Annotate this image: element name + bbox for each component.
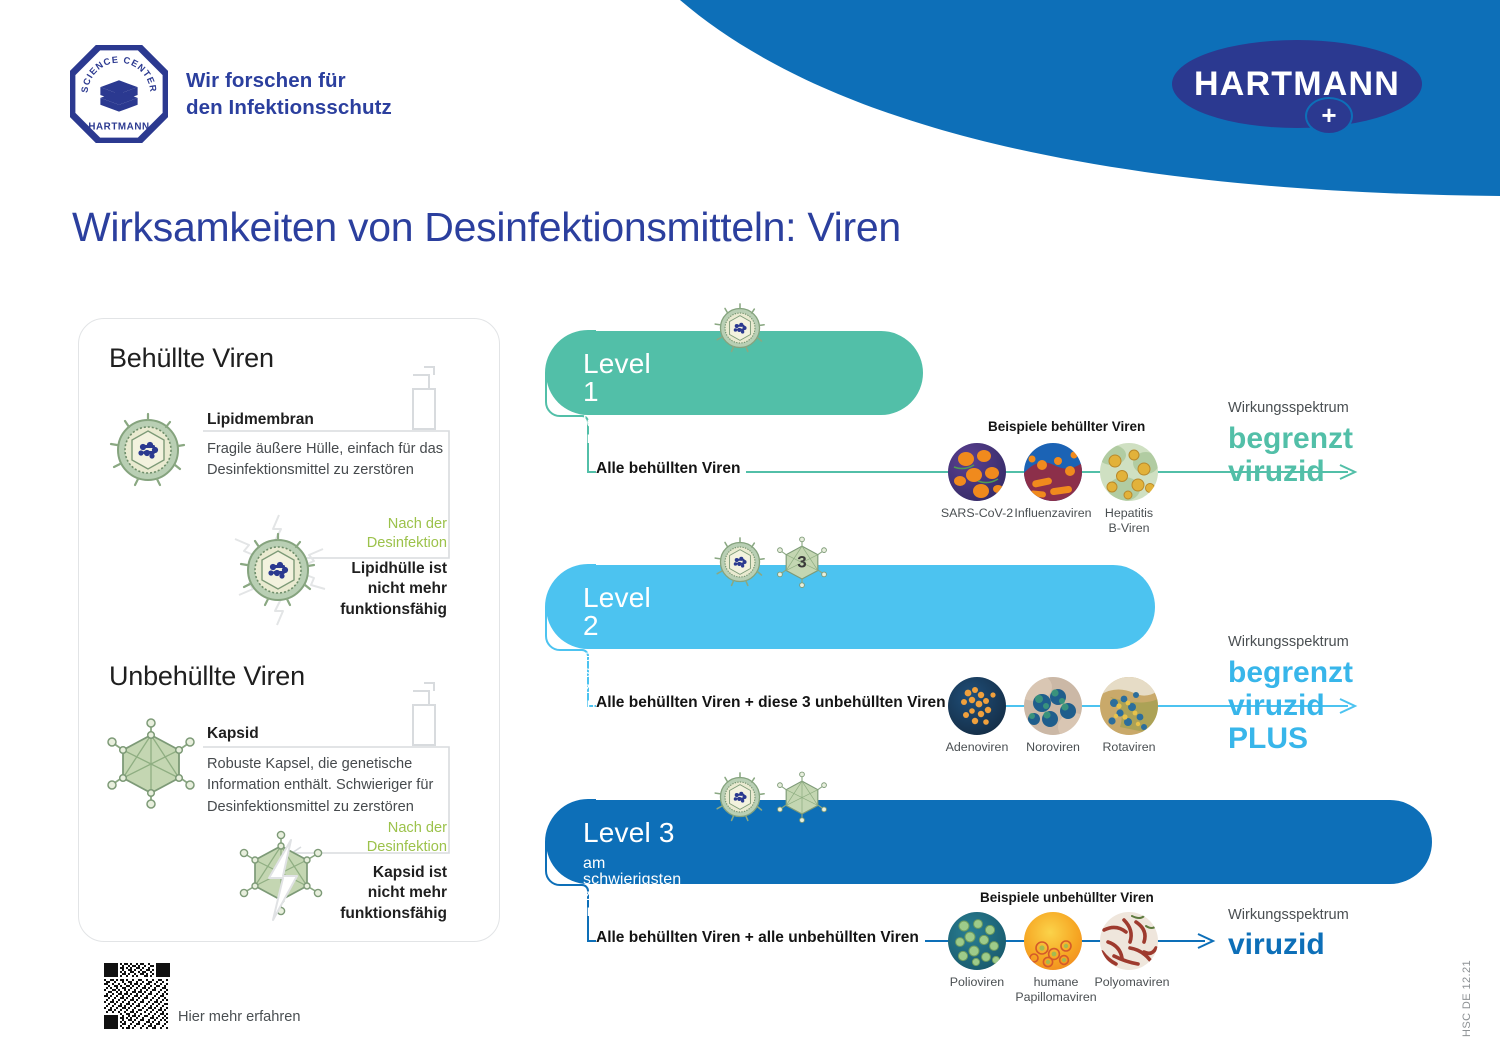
non-enveloped-after-line1: Nach der bbox=[297, 819, 447, 838]
level-2-spectrum-kicker: Wirkungsspektrum bbox=[1228, 634, 1349, 650]
non-enveloped-after-line2: Desinfektion bbox=[297, 838, 447, 857]
level-3-row-label: Alle behüllten Viren + alle unbehüllten … bbox=[596, 929, 925, 947]
level-1-label: Level 1 leicht zu inaktivieren bbox=[583, 350, 665, 447]
document-code: HSC DE 12.21 bbox=[1461, 960, 1473, 1037]
non-enveloped-term: Kapsid bbox=[207, 725, 259, 743]
enveloped-result-line1: Lipidhülle ist bbox=[287, 559, 447, 579]
enveloped-result-line3: funktionsfähig bbox=[287, 600, 447, 620]
seal-bottom-text: HARTMANN bbox=[88, 121, 149, 132]
infographic-root: SCIENCE CENTER HARTMANN Wir forschen für… bbox=[0, 0, 1500, 1059]
level-1-title: Level 1 bbox=[583, 350, 665, 406]
level-2-example-2-caption: Rotaviren bbox=[1072, 740, 1186, 755]
enveloped-after-line1: Nach der bbox=[297, 515, 447, 534]
non-enveloped-result-line1: Kapsid ist bbox=[287, 863, 447, 883]
level-2-example-1-image bbox=[1024, 677, 1082, 735]
enveloped-result-line2: nicht mehr bbox=[287, 579, 447, 599]
brand-claim-line2: den Infektionsschutz bbox=[186, 94, 392, 121]
level-3-spectrum-value: viruzid bbox=[1228, 928, 1325, 961]
non-enveloped-description-line2: Information enthält. Schwieriger für bbox=[207, 775, 463, 796]
level-1-example-2-image bbox=[1100, 443, 1158, 501]
enveloped-result: Lipidhülle ist nicht mehr funktionsfähig bbox=[287, 559, 447, 620]
hartmann-logo: HARTMANN + bbox=[1172, 40, 1422, 150]
level-2-row-label: Alle behüllten Viren + diese 3 unbehüllt… bbox=[596, 694, 952, 712]
page-title: Wirksamkeiten von Desinfektionsmitteln: … bbox=[72, 204, 901, 251]
non-enveloped-description-line1: Robuste Kapsel, die genetische bbox=[207, 754, 463, 775]
level-1-row-label: Alle behüllten Viren bbox=[596, 460, 746, 478]
virus-types-panel: Behüllte Viren Lipi bbox=[78, 318, 500, 942]
level-2-spectrum-value: begrenzt viruzid PLUS bbox=[1228, 656, 1353, 755]
hartmann-plus-icon: + bbox=[1305, 97, 1353, 135]
level-1-spectrum-value: begrenzt viruzid bbox=[1228, 422, 1353, 488]
non-enveloped-result: Kapsid ist nicht mehr funktionsfähig bbox=[287, 863, 447, 924]
level-3-example-2-caption: Polyomaviren bbox=[1072, 975, 1192, 990]
enveloped-after-line2: Desinfektion bbox=[297, 534, 447, 553]
enveloped-virus-icon bbox=[105, 407, 191, 493]
non-enveloped-result-line3: funktionsfähig bbox=[287, 904, 447, 924]
science-center-logo: SCIENCE CENTER HARTMANN Wir forschen für… bbox=[70, 45, 392, 143]
enveloped-description-line2: Desinfektionsmittel zu zerstören bbox=[207, 460, 457, 481]
non-enveloped-result-line2: nicht mehr bbox=[287, 883, 447, 903]
brand-claim-line1: Wir forschen für bbox=[186, 67, 392, 94]
level-1-enveloped-badge-icon bbox=[712, 300, 768, 356]
enveloped-after-label: Nach der Desinfektion bbox=[297, 515, 447, 554]
level-3-title: Level 3 bbox=[583, 819, 681, 847]
level-2-example-2-image bbox=[1100, 677, 1158, 735]
level-1-example-0-image bbox=[948, 443, 1006, 501]
brand-claim: Wir forschen für den Infektionsschutz bbox=[186, 67, 392, 121]
qr-code[interactable] bbox=[104, 963, 170, 1029]
hartmann-plus-glyph: + bbox=[1321, 102, 1336, 128]
level-3-example-0-image bbox=[948, 912, 1006, 970]
level-1-example-1-image bbox=[1024, 443, 1082, 501]
level-3-capsid-badge-icon bbox=[776, 771, 828, 823]
level-2-example-0-image bbox=[948, 677, 1006, 735]
level-2-badge-number: 3 bbox=[797, 553, 806, 572]
level-3-enveloped-badge-icon bbox=[712, 769, 768, 825]
level-1-spectrum-kicker: Wirkungsspektrum bbox=[1228, 400, 1349, 416]
non-enveloped-after-label: Nach der Desinfektion bbox=[297, 819, 447, 858]
level-3-label: Level 3 am schwierigsten zu inaktivieren bbox=[583, 819, 681, 920]
qr-label: Hier mehr erfahren bbox=[178, 1009, 300, 1025]
hartmann-wordmark: HARTMANN bbox=[1172, 40, 1422, 128]
enveloped-description: Fragile äußere Hülle, einfach für das De… bbox=[207, 439, 457, 482]
level-2-capsid-badge-icon: 3 bbox=[776, 536, 828, 588]
science-center-seal-icon: SCIENCE CENTER HARTMANN bbox=[70, 45, 168, 143]
non-enveloped-description: Robuste Kapsel, die genetische Informati… bbox=[207, 754, 463, 818]
non-enveloped-capsid-icon bbox=[105, 717, 197, 809]
level-3-example-2-image bbox=[1100, 912, 1158, 970]
level-1-examples-title: Beispiele behüllter Viren bbox=[988, 419, 1145, 434]
level-2-enveloped-badge-icon bbox=[712, 534, 768, 590]
level-1-example-2-caption: Hepatitis B-Viren bbox=[1072, 506, 1186, 536]
level-2-title: Level 2 bbox=[583, 584, 665, 640]
non-enveloped-heading: Unbehüllte Viren bbox=[109, 661, 305, 692]
level-3-examples-title: Beispiele unbehüllter Viren bbox=[980, 890, 1154, 905]
enveloped-heading: Behüllte Viren bbox=[109, 343, 274, 374]
level-3-example-1-image bbox=[1024, 912, 1082, 970]
enveloped-term: Lipidmembran bbox=[207, 411, 314, 429]
level-3-spectrum-kicker: Wirkungsspektrum bbox=[1228, 907, 1349, 923]
level-3-subtitle: am schwierigsten zu inaktivieren bbox=[583, 856, 681, 920]
level-1-subtitle: leicht zu inaktivieren bbox=[583, 415, 665, 447]
enveloped-description-line1: Fragile äußere Hülle, einfach für das bbox=[207, 439, 457, 460]
non-enveloped-description-line3: Desinfektionsmittel zu zerstören bbox=[207, 797, 463, 818]
